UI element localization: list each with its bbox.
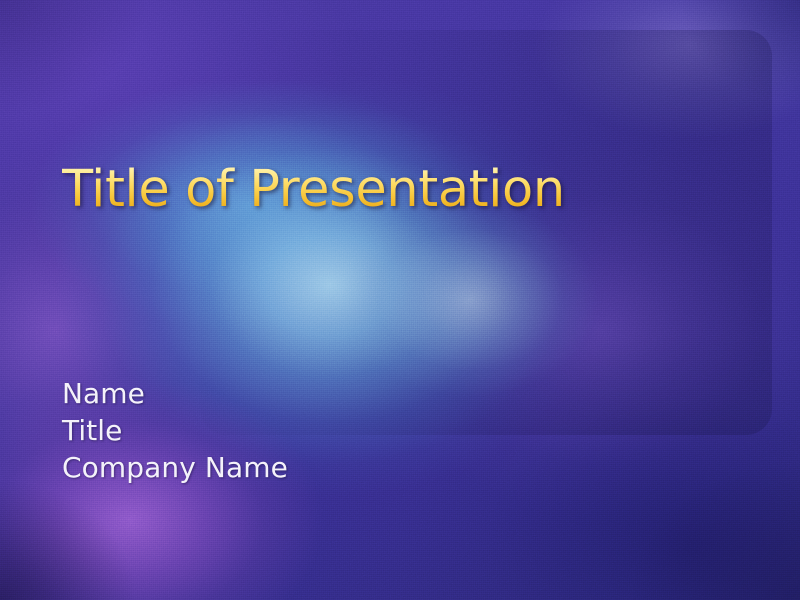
background-base-gradient <box>0 0 800 600</box>
film-grain-texture <box>0 0 800 600</box>
canvas-weave-texture <box>0 0 800 600</box>
presentation-slide: Title of Presentation Name Title Company… <box>0 0 800 600</box>
page-title[interactable]: Title of Presentation <box>62 162 722 217</box>
background-glow-violet-mid-left <box>0 0 800 600</box>
subtitle-line-company-name[interactable]: Company Name <box>62 449 582 486</box>
background-glow-cyan-upper <box>0 0 800 600</box>
background-glow-violet-bottom-left <box>0 0 800 600</box>
title-placeholder[interactable]: Title of Presentation <box>62 162 722 217</box>
background-glow-navy-bottom-right <box>0 0 800 600</box>
background-glow-cyan-core <box>0 0 800 600</box>
background-glow-top-left <box>0 0 800 600</box>
subtitle-placeholder[interactable]: Name Title Company Name <box>62 375 582 487</box>
background-glow-purple-mid-right <box>0 0 800 600</box>
background-corner-vignette <box>0 0 800 600</box>
background-glow-lavender-top-right <box>0 0 800 600</box>
background-glow-cyan-right <box>0 0 800 600</box>
subtitle-line-title[interactable]: Title <box>62 412 582 449</box>
subtitle-line-name[interactable]: Name <box>62 375 582 412</box>
